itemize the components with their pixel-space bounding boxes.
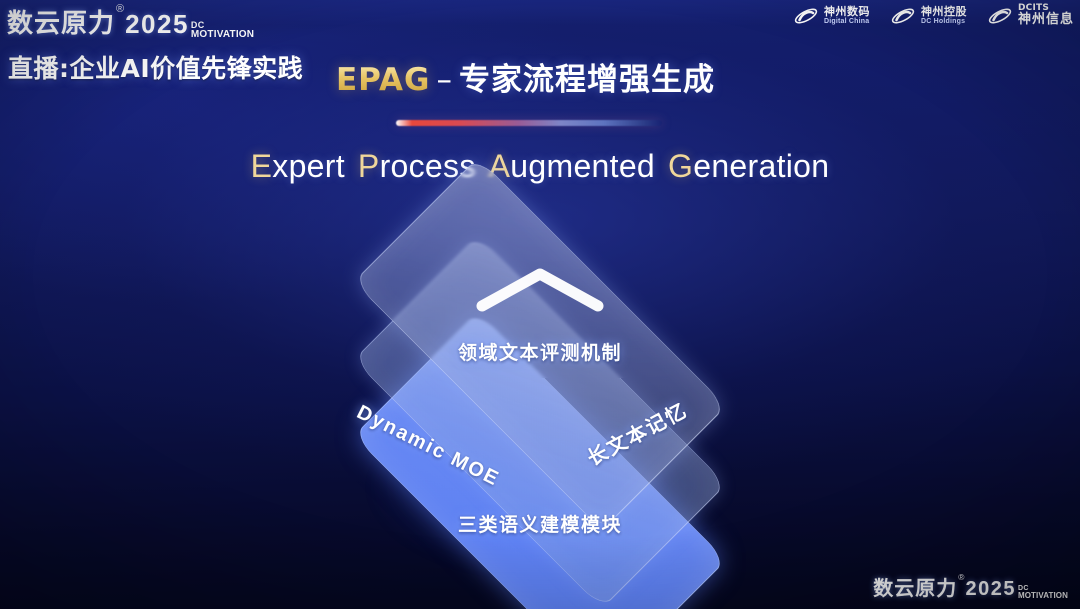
registered-mark: ® [116, 3, 124, 15]
watermark-year: 2025 [965, 578, 1016, 601]
brand-logo-dc-line2: MOTIVATION [191, 30, 254, 40]
partner-logo-dcits: DCITS 神州信息 [987, 4, 1074, 27]
partner-text: DCITS 神州信息 [1018, 4, 1074, 27]
title-acronym: EPAG [336, 62, 431, 98]
slide-canvas: 数云原力 ® 2025 DC MOTIVATION 直播:企业AI价值先锋实践 … [0, 0, 1080, 609]
partner-name-en: DC Holdings [921, 18, 967, 25]
layered-stack-diagram: 领域文本评测机制 Dynamic MOE 长文本记忆 三类语义建模模块 [290, 222, 790, 582]
brand-logo-year: 2025 [125, 9, 189, 40]
watermark-dc-line2: MOTIVATION [1018, 592, 1068, 600]
subtitle-initial: G [668, 148, 693, 184]
subtitle-rest: ugmented [510, 148, 655, 184]
watermark-registered-mark: ® [958, 572, 964, 582]
brand-logo: 数云原力 ® 2025 DC MOTIVATION [7, 3, 254, 40]
page-subtitle: ExpertProcessAugmentedGeneration [0, 148, 1080, 185]
swirl-icon [987, 5, 1013, 27]
accent-divider [396, 120, 662, 126]
partner-name-cn: 神州数码 [824, 6, 870, 18]
brand-watermark: 数云原力 ® 2025 DC MOTIVATION [873, 572, 1068, 601]
partner-logo-digital-china: 神州数码 Digital China [793, 5, 870, 27]
watermark-dc: DC MOTIVATION [1018, 586, 1068, 600]
subtitle-rest: eneration [693, 148, 829, 184]
partner-text: 神州数码 Digital China [824, 6, 870, 25]
subtitle-word-generation: Generation [668, 148, 829, 184]
subtitle-word-expert: Expert [251, 148, 345, 184]
title-chinese: 专家流程增强生成 [459, 62, 715, 98]
partner-name-cn: 神州控股 [921, 6, 967, 18]
swirl-icon [793, 5, 819, 27]
brand-logo-cn: 数云原力 [7, 3, 115, 40]
subtitle-word-augmented: Augmented [489, 148, 655, 184]
subtitle-initial: P [358, 148, 380, 184]
swirl-icon [890, 5, 916, 27]
page-title: EPAG–专家流程增强生成 [336, 54, 715, 99]
brand-logo-dc: DC MOTIVATION [191, 21, 254, 39]
partner-logos: 神州数码 Digital China 神州控股 DC Holdings DCIT… [793, 4, 1074, 27]
subtitle-rest: xpert [272, 148, 345, 184]
partner-logo-dc-holdings: 神州控股 DC Holdings [890, 5, 967, 27]
partner-name-cn: 神州信息 [1018, 13, 1074, 27]
partner-text: 神州控股 DC Holdings [921, 6, 967, 25]
title-dash: – [437, 62, 454, 98]
partner-name-en: Digital China [824, 18, 870, 25]
watermark-cn: 数云原力 [873, 572, 957, 601]
subtitle-initial: E [251, 148, 273, 184]
live-headline: 直播:企业AI价值先锋实践 [8, 49, 303, 85]
